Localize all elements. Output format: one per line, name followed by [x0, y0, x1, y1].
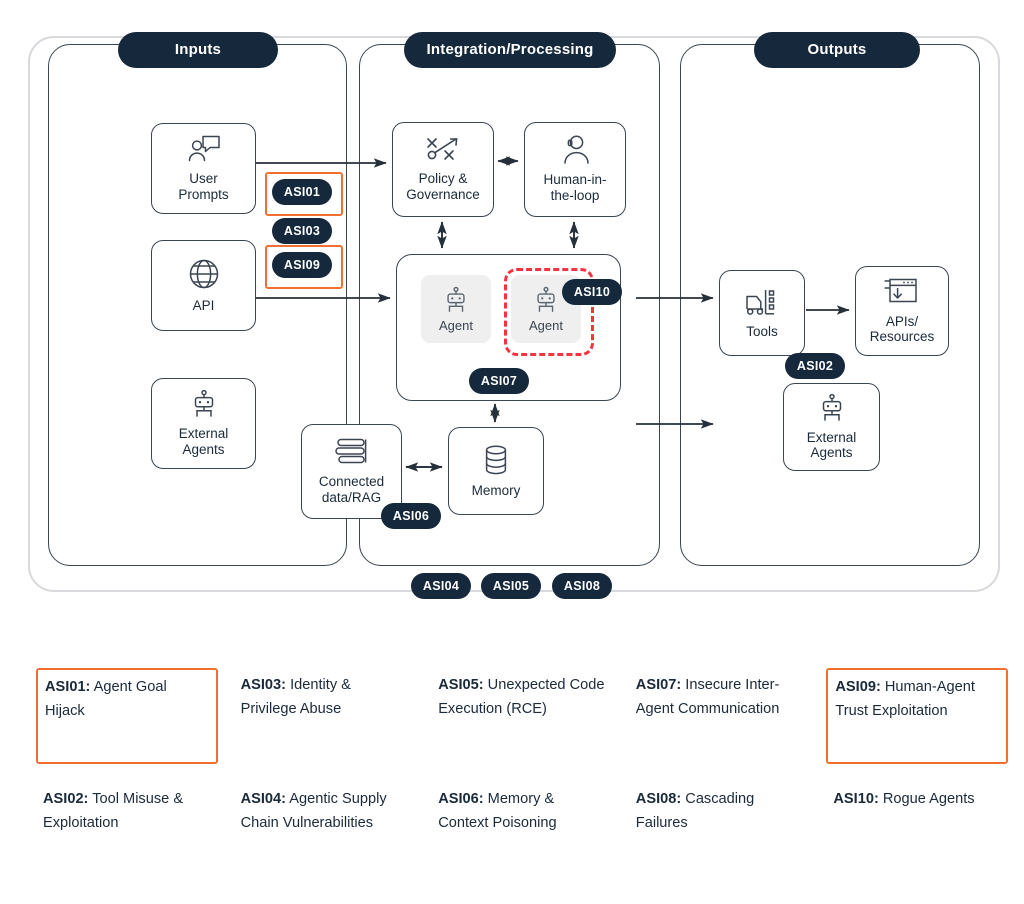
strategy-icon	[423, 136, 463, 168]
robot-icon	[442, 286, 470, 317]
legend-item-code: ASI05:	[438, 677, 483, 693]
badge-asi09[interactable]: ASI09	[272, 252, 332, 278]
node-label: Agent	[439, 318, 473, 333]
badge-asi02[interactable]: ASI02	[785, 353, 845, 379]
node-external-agents-output[interactable]: External Agents	[783, 383, 880, 471]
legend-gap	[826, 764, 1008, 782]
node-human-in-the-loop[interactable]: Human-in- the-loop	[524, 122, 626, 217]
node-label: APIs/ Resources	[867, 314, 938, 346]
node-label: API	[190, 298, 218, 314]
node-label: External Agents	[176, 426, 232, 458]
node-agent-a[interactable]: Agent	[421, 275, 491, 343]
legend-item-asi07: ASI07: Insecure Inter-Agent Communicatio…	[629, 668, 811, 764]
node-api[interactable]: API	[151, 240, 256, 331]
node-label: User Prompts	[175, 171, 231, 203]
legend-item-code: ASI01:	[45, 679, 90, 695]
legend-gap	[629, 764, 811, 782]
legend-item-code: ASI07:	[636, 677, 681, 693]
download-window-icon	[883, 277, 921, 311]
node-tools[interactable]: Tools	[719, 270, 805, 356]
legend-item-code: ASI02:	[43, 791, 88, 807]
legend-column: ASI07: Insecure Inter-Agent Communicatio…	[629, 668, 811, 878]
legend-item-asi04: ASI04: Agentic Supply Chain Vulnerabilit…	[234, 782, 416, 878]
legend-gap	[36, 764, 218, 782]
legend-item-asi05: ASI05: Unexpected Code Execution (RCE)	[431, 668, 613, 764]
forklift-icon	[743, 287, 781, 321]
legend-column: ASI05: Unexpected Code Execution (RCE)AS…	[431, 668, 613, 878]
robot-icon	[817, 393, 847, 427]
badge-asi05[interactable]: ASI05	[481, 573, 541, 599]
user-chat-icon	[184, 134, 224, 168]
legend-column: ASI01: Agent Goal HijackASI02: Tool Misu…	[36, 668, 218, 878]
node-external-agents-input[interactable]: External Agents	[151, 378, 256, 469]
legend-item-text: Rogue Agents	[879, 791, 975, 807]
node-label: Tools	[743, 324, 781, 340]
lane-title-inputs: Inputs	[118, 32, 278, 68]
node-apis-resources[interactable]: APIs/ Resources	[855, 266, 949, 356]
legend-gap	[234, 764, 416, 782]
legend-item-asi02: ASI02: Tool Misuse & Exploitation	[36, 782, 218, 878]
lane-title-integration: Integration/Processing	[404, 32, 616, 68]
globe-icon	[187, 257, 221, 295]
node-label: External Agents	[804, 430, 860, 462]
legend-item-code: ASI06:	[438, 791, 483, 807]
books-icon	[332, 437, 372, 471]
legend-item-asi06: ASI06: Memory & Context Poisoning	[431, 782, 613, 878]
node-label: Connected data/RAG	[316, 474, 387, 506]
badge-asi10[interactable]: ASI10	[562, 279, 622, 305]
legend-item-asi01: ASI01: Agent Goal Hijack	[36, 668, 218, 764]
badge-asi06[interactable]: ASI06	[381, 503, 441, 529]
badge-asi03[interactable]: ASI03	[272, 218, 332, 244]
badge-asi01[interactable]: ASI01	[272, 179, 332, 205]
node-label: Human-in- the-loop	[540, 172, 609, 204]
legend-item-code: ASI08:	[636, 791, 681, 807]
robot-icon	[189, 389, 219, 423]
database-icon	[481, 444, 511, 480]
node-label: Policy & Governance	[403, 171, 483, 203]
badge-asi04[interactable]: ASI04	[411, 573, 471, 599]
legend: ASI01: Agent Goal HijackASI02: Tool Misu…	[36, 668, 1008, 878]
legend-item-asi09: ASI09: Human-Agent Trust Exploitation	[826, 668, 1008, 764]
legend-column: ASI03: Identity & Privilege AbuseASI04: …	[234, 668, 416, 878]
node-memory[interactable]: Memory	[448, 427, 544, 515]
legend-item-asi08: ASI08: Cascading Failures	[629, 782, 811, 878]
node-policy-governance[interactable]: Policy & Governance	[392, 122, 494, 217]
badge-asi08[interactable]: ASI08	[552, 573, 612, 599]
legend-gap	[431, 764, 613, 782]
legend-item-code: ASI09:	[835, 679, 880, 695]
node-user-prompts[interactable]: User Prompts	[151, 123, 256, 214]
lane-title-outputs: Outputs	[754, 32, 920, 68]
legend-item-asi03: ASI03: Identity & Privilege Abuse	[234, 668, 416, 764]
legend-column: ASI09: Human-Agent Trust ExploitationASI…	[826, 668, 1008, 878]
person-headset-icon	[558, 135, 592, 169]
legend-item-code: ASI03:	[241, 677, 286, 693]
diagram-canvas: Inputs Integration/Processing Outputs Us…	[0, 0, 1024, 904]
legend-item-asi10: ASI10: Rogue Agents	[826, 782, 1008, 878]
legend-item-code: ASI10:	[833, 791, 878, 807]
legend-item-code: ASI04:	[241, 791, 286, 807]
badge-asi07[interactable]: ASI07	[469, 368, 529, 394]
node-label: Memory	[469, 483, 524, 499]
